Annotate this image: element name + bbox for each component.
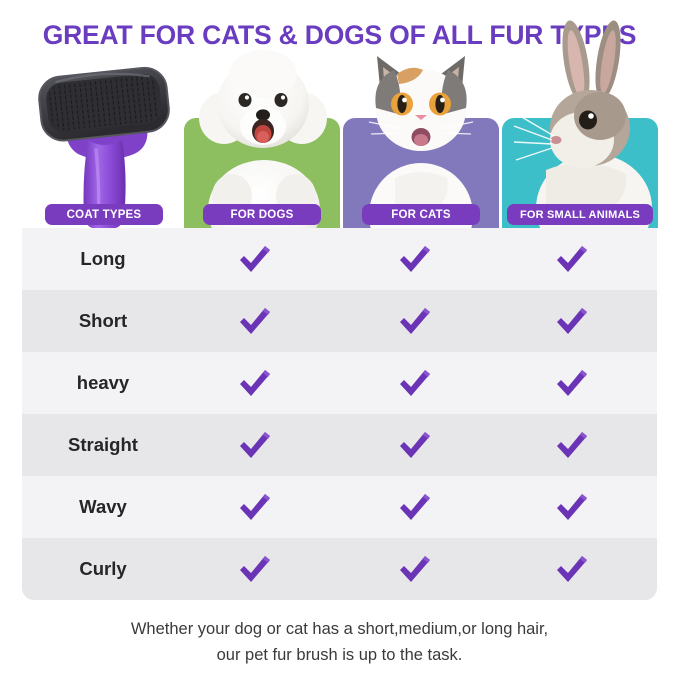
checkmark-icon-small-animals bbox=[555, 492, 589, 522]
checkmark-icon-small-animals bbox=[555, 554, 589, 584]
checkmark-icon-small-animals bbox=[555, 368, 589, 398]
table-row: Curly bbox=[22, 538, 657, 600]
row-label-coat-type: Curly bbox=[22, 558, 184, 580]
checkmark-icon-cats bbox=[398, 306, 432, 336]
dog-photo bbox=[184, 0, 340, 228]
checkmark-icon-small-animals bbox=[555, 430, 589, 460]
caption-line-1: Whether your dog or cat has a short,medi… bbox=[0, 616, 679, 642]
checkmark-icon-small-animals bbox=[555, 244, 589, 274]
product-comparison-infographic: GREAT FOR CATS & DOGS OF ALL FUR TYPES bbox=[0, 0, 679, 679]
table-row: Long bbox=[22, 228, 657, 290]
checkmark-icon-dogs bbox=[238, 492, 272, 522]
row-label-coat-type: Wavy bbox=[22, 496, 184, 518]
column-header-for-dogs[interactable]: FOR DOGS bbox=[203, 204, 321, 225]
table-row: heavy bbox=[22, 352, 657, 414]
table-row: Short bbox=[22, 290, 657, 352]
checkmark-icon-dogs bbox=[238, 244, 272, 274]
column-photo-panels bbox=[0, 0, 679, 228]
checkmark-icon-cats bbox=[398, 430, 432, 460]
cat-photo bbox=[343, 0, 499, 228]
row-label-coat-type: heavy bbox=[22, 372, 184, 394]
checkmark-icon-cats bbox=[398, 368, 432, 398]
checkmark-icon-cats bbox=[398, 554, 432, 584]
checkmark-icon-dogs bbox=[238, 306, 272, 336]
checkmark-icon-dogs bbox=[238, 554, 272, 584]
checkmark-icon-cats bbox=[398, 492, 432, 522]
checkmark-icon-small-animals bbox=[555, 306, 589, 336]
table-row: Straight bbox=[22, 414, 657, 476]
row-label-coat-type: Long bbox=[22, 248, 184, 270]
pet-brush-image bbox=[28, 58, 180, 228]
caption-line-2: our pet fur brush is up to the task. bbox=[0, 642, 679, 668]
checkmark-icon-cats bbox=[398, 244, 432, 274]
rabbit-photo bbox=[502, 0, 658, 228]
row-label-coat-type: Straight bbox=[22, 434, 184, 456]
table-row: Wavy bbox=[22, 476, 657, 538]
footer-caption: Whether your dog or cat has a short,medi… bbox=[0, 616, 679, 668]
coat-type-comparison-table: Long Short heavy bbox=[22, 228, 657, 600]
column-header-coat-types[interactable]: COAT TYPES bbox=[45, 204, 163, 225]
row-label-coat-type: Short bbox=[22, 310, 184, 332]
checkmark-icon-dogs bbox=[238, 368, 272, 398]
column-header-for-small-animals[interactable]: FOR SMALL ANIMALS bbox=[507, 204, 653, 225]
checkmark-icon-dogs bbox=[238, 430, 272, 460]
column-header-for-cats[interactable]: FOR CATS bbox=[362, 204, 480, 225]
